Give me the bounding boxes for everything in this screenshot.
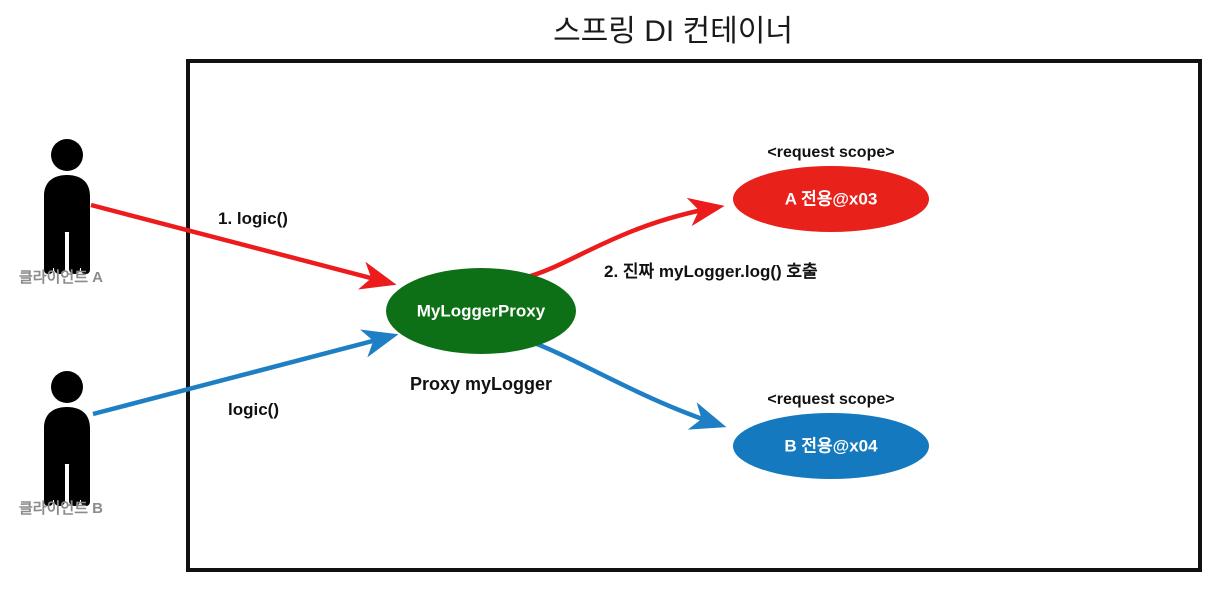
client-a-label: 클라이언트 A	[19, 268, 103, 286]
spring-di-container-diagram: 스프링 DI 컨테이너 클라이언트 A 클라이언트 B 1. logic()	[0, 0, 1232, 590]
proxy-caption: Proxy myLogger	[410, 374, 552, 394]
bean-b-scope-label: <request scope>	[767, 391, 894, 408]
node-bean-a-label: A 전용@x03	[785, 189, 878, 208]
edge-label-client-b-to-proxy: logic()	[228, 400, 279, 419]
client-b-label: 클라이언트 B	[19, 499, 103, 517]
node-my-logger-proxy-label: MyLoggerProxy	[417, 301, 546, 320]
node-bean-b-label: B 전용@x04	[784, 436, 878, 455]
client-a-person-icon	[44, 139, 90, 274]
edge-proxy-to-bean-b	[529, 341, 720, 425]
diagram-canvas: 스프링 DI 컨테이너 클라이언트 A 클라이언트 B 1. logic()	[0, 0, 1232, 590]
edge-label-client-a-to-proxy: 1. logic()	[218, 209, 288, 228]
edge-label-proxy-to-bean-a: 2. 진짜 myLogger.log() 호출	[604, 262, 818, 281]
diagram-title: 스프링 DI 컨테이너	[553, 15, 793, 48]
client-b-person-icon	[44, 371, 90, 506]
di-container-box	[188, 61, 1200, 570]
bean-a-scope-label: <request scope>	[767, 144, 894, 161]
